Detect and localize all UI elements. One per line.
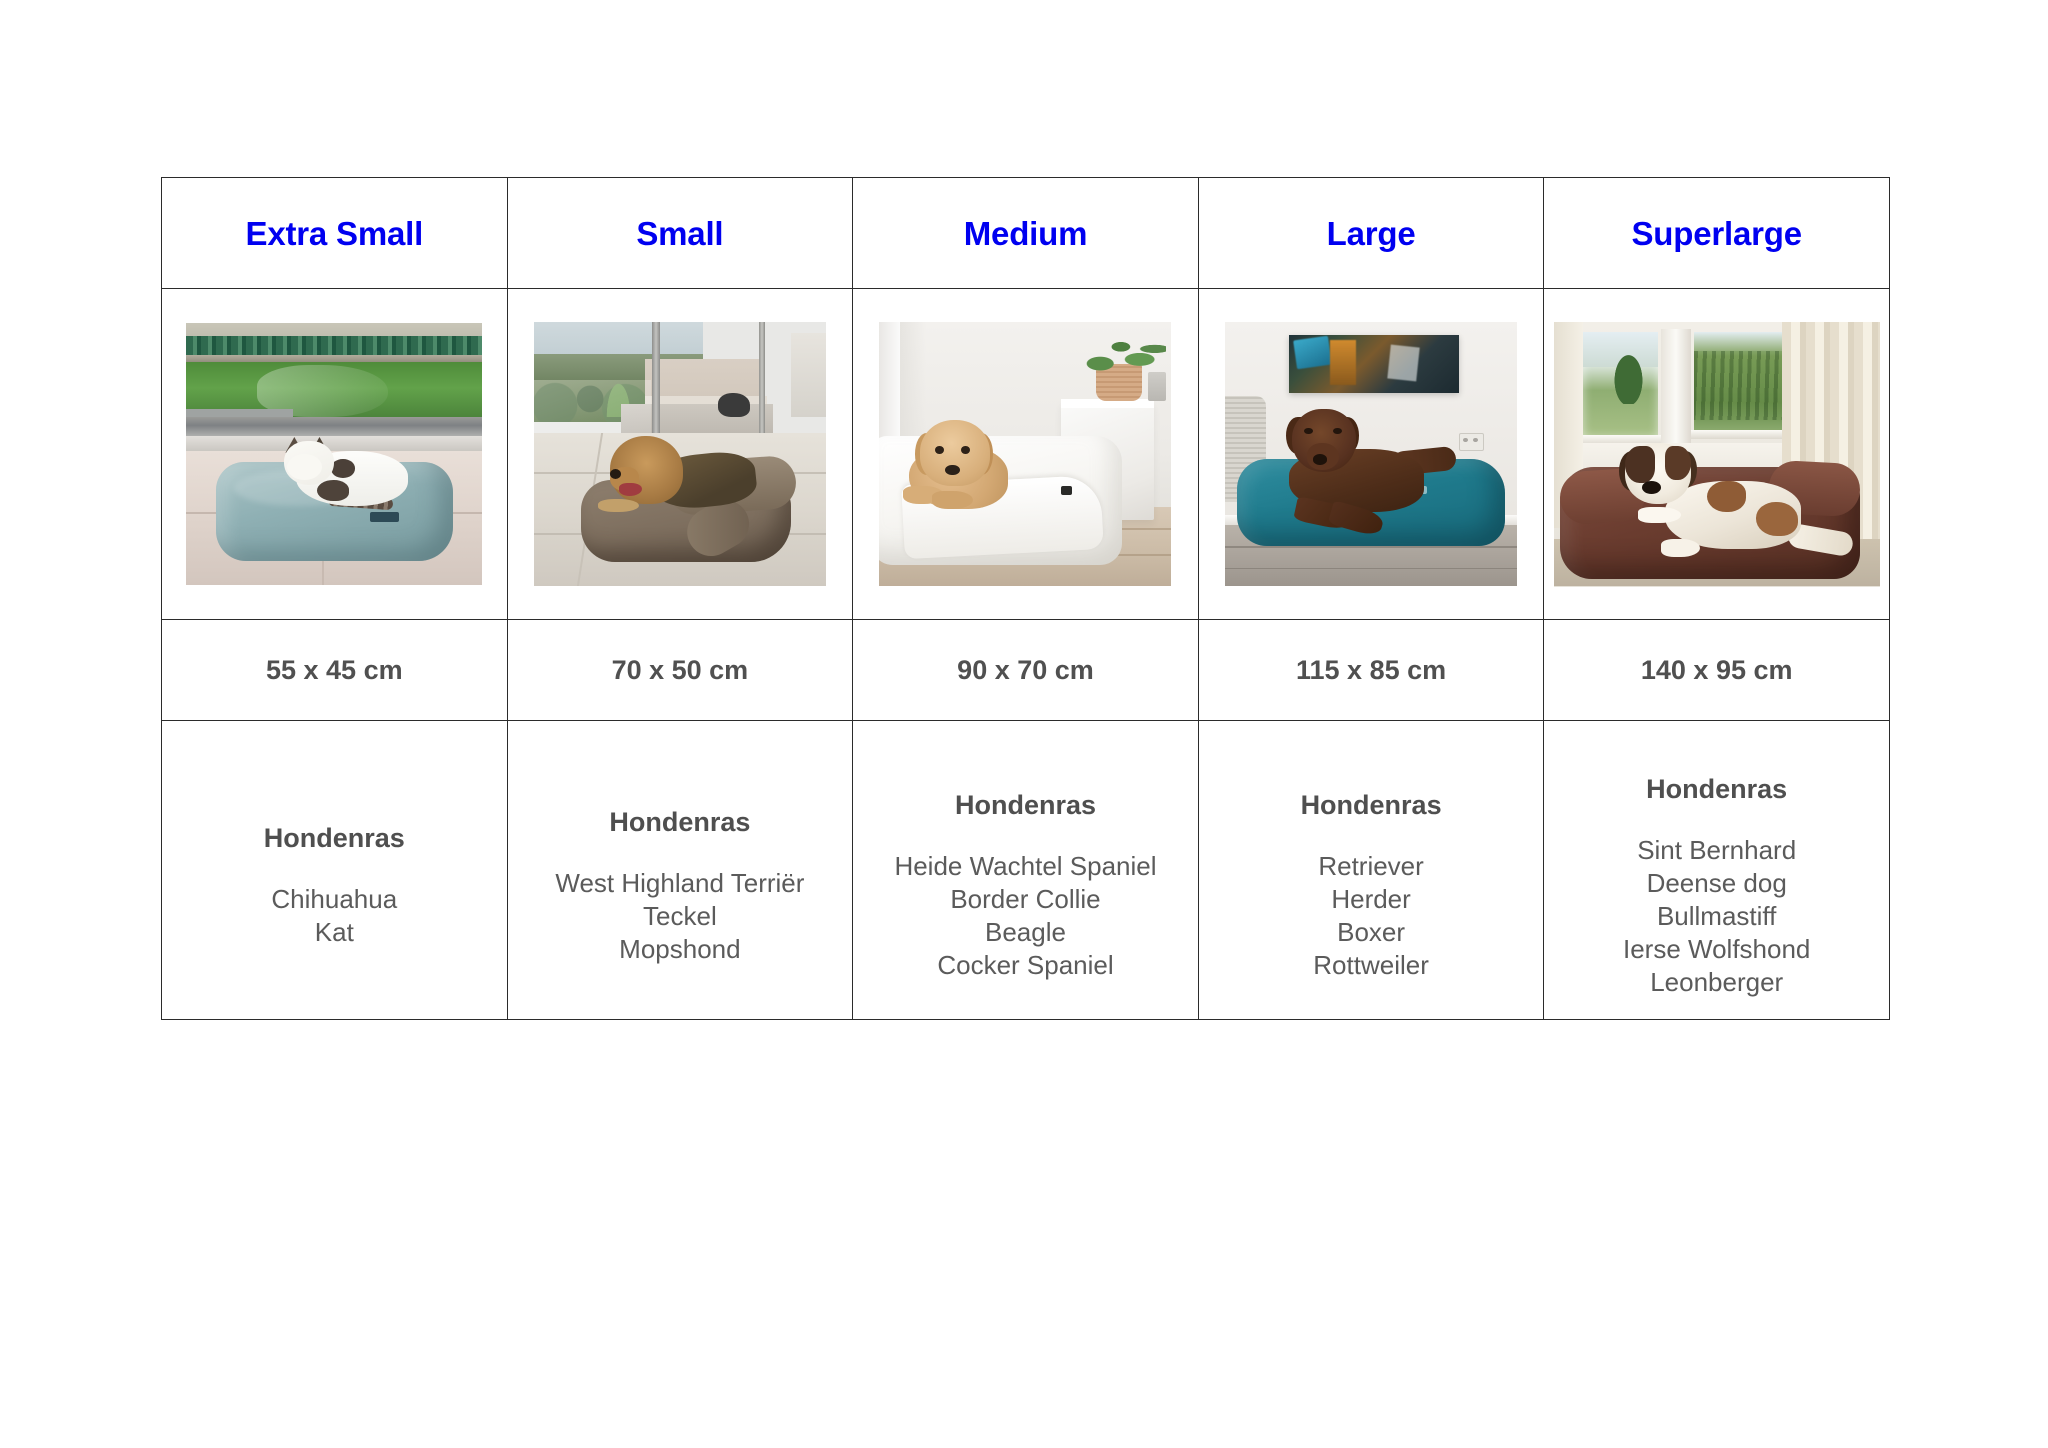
breed-item: Bullmastiff bbox=[1544, 900, 1889, 933]
dimensions-cell-large: 115 x 85 cm bbox=[1198, 620, 1544, 721]
breed-item: Boxer bbox=[1199, 916, 1544, 949]
photo-wrapper bbox=[853, 289, 1198, 619]
breed-item: Chihuahua bbox=[162, 883, 507, 916]
breeds-title: Hondenras bbox=[853, 792, 1198, 819]
breed-item: Cocker Spaniel bbox=[853, 949, 1198, 982]
header-cell-superlarge: Superlarge bbox=[1544, 178, 1890, 289]
photo-cell-small bbox=[507, 289, 853, 620]
dog-bed-size-guide-table: Extra Small Small Medium Large Superlarg… bbox=[161, 177, 1890, 1020]
photo-cell-medium bbox=[853, 289, 1199, 620]
size-header-label: Medium bbox=[853, 217, 1198, 250]
breeds-list: West Highland Terriër Teckel Mopshond bbox=[508, 867, 853, 966]
size-header-label: Small bbox=[508, 217, 853, 250]
breed-item: Leonberger bbox=[1544, 966, 1889, 999]
dimensions-label: 115 x 85 cm bbox=[1199, 657, 1544, 684]
breeds-title: Hondenras bbox=[162, 825, 507, 852]
breed-item: Rottweiler bbox=[1199, 949, 1544, 982]
product-photo-small bbox=[534, 322, 826, 586]
photo-wrapper bbox=[508, 289, 853, 619]
breed-item: Sint Bernhard bbox=[1544, 834, 1889, 867]
size-header-label: Large bbox=[1199, 217, 1544, 250]
breed-item: West Highland Terriër bbox=[508, 867, 853, 900]
size-header-label: Extra Small bbox=[162, 217, 507, 250]
photo-wrapper bbox=[1544, 289, 1889, 619]
photo-cell-extra-small bbox=[162, 289, 508, 620]
breeds-box: Hondenras Heide Wachtel Spaniel Border C… bbox=[853, 758, 1198, 982]
photo-cell-superlarge bbox=[1544, 289, 1890, 620]
breed-item: Heide Wachtel Spaniel bbox=[853, 850, 1198, 883]
breed-item: Herder bbox=[1199, 883, 1544, 916]
table-dimensions-row: 55 x 45 cm 70 x 50 cm 90 x 70 cm 115 x 8… bbox=[162, 620, 1890, 721]
breed-item: Retriever bbox=[1199, 850, 1544, 883]
header-cell-large: Large bbox=[1198, 178, 1544, 289]
breed-item: Mopshond bbox=[508, 933, 853, 966]
table-breeds-row: Hondenras Chihuahua Kat Hondenras West H… bbox=[162, 721, 1890, 1020]
photo-cell-large bbox=[1198, 289, 1544, 620]
breeds-cell-medium: Hondenras Heide Wachtel Spaniel Border C… bbox=[853, 721, 1199, 1020]
breed-item: Beagle bbox=[853, 916, 1198, 949]
dimensions-label: 55 x 45 cm bbox=[162, 657, 507, 684]
breed-item: Border Collie bbox=[853, 883, 1198, 916]
breeds-list: Retriever Herder Boxer Rottweiler bbox=[1199, 850, 1544, 982]
size-header-label: Superlarge bbox=[1544, 217, 1889, 250]
breeds-cell-superlarge: Hondenras Sint Bernhard Deense dog Bullm… bbox=[1544, 721, 1890, 1020]
breed-item: Kat bbox=[162, 916, 507, 949]
dimensions-label: 140 x 95 cm bbox=[1544, 657, 1889, 684]
header-cell-medium: Medium bbox=[853, 178, 1199, 289]
breeds-cell-extra-small: Hondenras Chihuahua Kat bbox=[162, 721, 508, 1020]
breeds-box: Hondenras Sint Bernhard Deense dog Bullm… bbox=[1544, 742, 1889, 999]
breeds-box: Hondenras Retriever Herder Boxer Rottwei… bbox=[1199, 758, 1544, 982]
dimensions-cell-small: 70 x 50 cm bbox=[507, 620, 853, 721]
product-photo-extra-small bbox=[186, 323, 482, 585]
breeds-box: Hondenras Chihuahua Kat bbox=[162, 791, 507, 949]
breeds-box: Hondenras West Highland Terriër Teckel M… bbox=[508, 775, 853, 966]
dimensions-label: 90 x 70 cm bbox=[853, 657, 1198, 684]
breeds-list: Sint Bernhard Deense dog Bullmastiff Ier… bbox=[1544, 834, 1889, 999]
table-photo-row bbox=[162, 289, 1890, 620]
product-photo-superlarge bbox=[1554, 322, 1880, 587]
breeds-list: Chihuahua Kat bbox=[162, 883, 507, 949]
product-photo-large bbox=[1225, 322, 1517, 586]
breeds-title: Hondenras bbox=[1199, 792, 1544, 819]
table-header-row: Extra Small Small Medium Large Superlarg… bbox=[162, 178, 1890, 289]
dimensions-cell-medium: 90 x 70 cm bbox=[853, 620, 1199, 721]
breed-item: Teckel bbox=[508, 900, 853, 933]
breed-item: Ierse Wolfshond bbox=[1544, 933, 1889, 966]
breeds-title: Hondenras bbox=[508, 809, 853, 836]
photo-wrapper bbox=[1199, 289, 1544, 619]
dimensions-cell-extra-small: 55 x 45 cm bbox=[162, 620, 508, 721]
dimensions-cell-superlarge: 140 x 95 cm bbox=[1544, 620, 1890, 721]
breeds-list: Heide Wachtel Spaniel Border Collie Beag… bbox=[853, 850, 1198, 982]
header-cell-extra-small: Extra Small bbox=[162, 178, 508, 289]
product-photo-medium bbox=[879, 322, 1171, 586]
breed-item: Deense dog bbox=[1544, 867, 1889, 900]
breeds-cell-small: Hondenras West Highland Terriër Teckel M… bbox=[507, 721, 853, 1020]
header-cell-small: Small bbox=[507, 178, 853, 289]
breeds-cell-large: Hondenras Retriever Herder Boxer Rottwei… bbox=[1198, 721, 1544, 1020]
dimensions-label: 70 x 50 cm bbox=[508, 657, 853, 684]
breeds-title: Hondenras bbox=[1544, 776, 1889, 803]
photo-wrapper bbox=[162, 289, 507, 619]
